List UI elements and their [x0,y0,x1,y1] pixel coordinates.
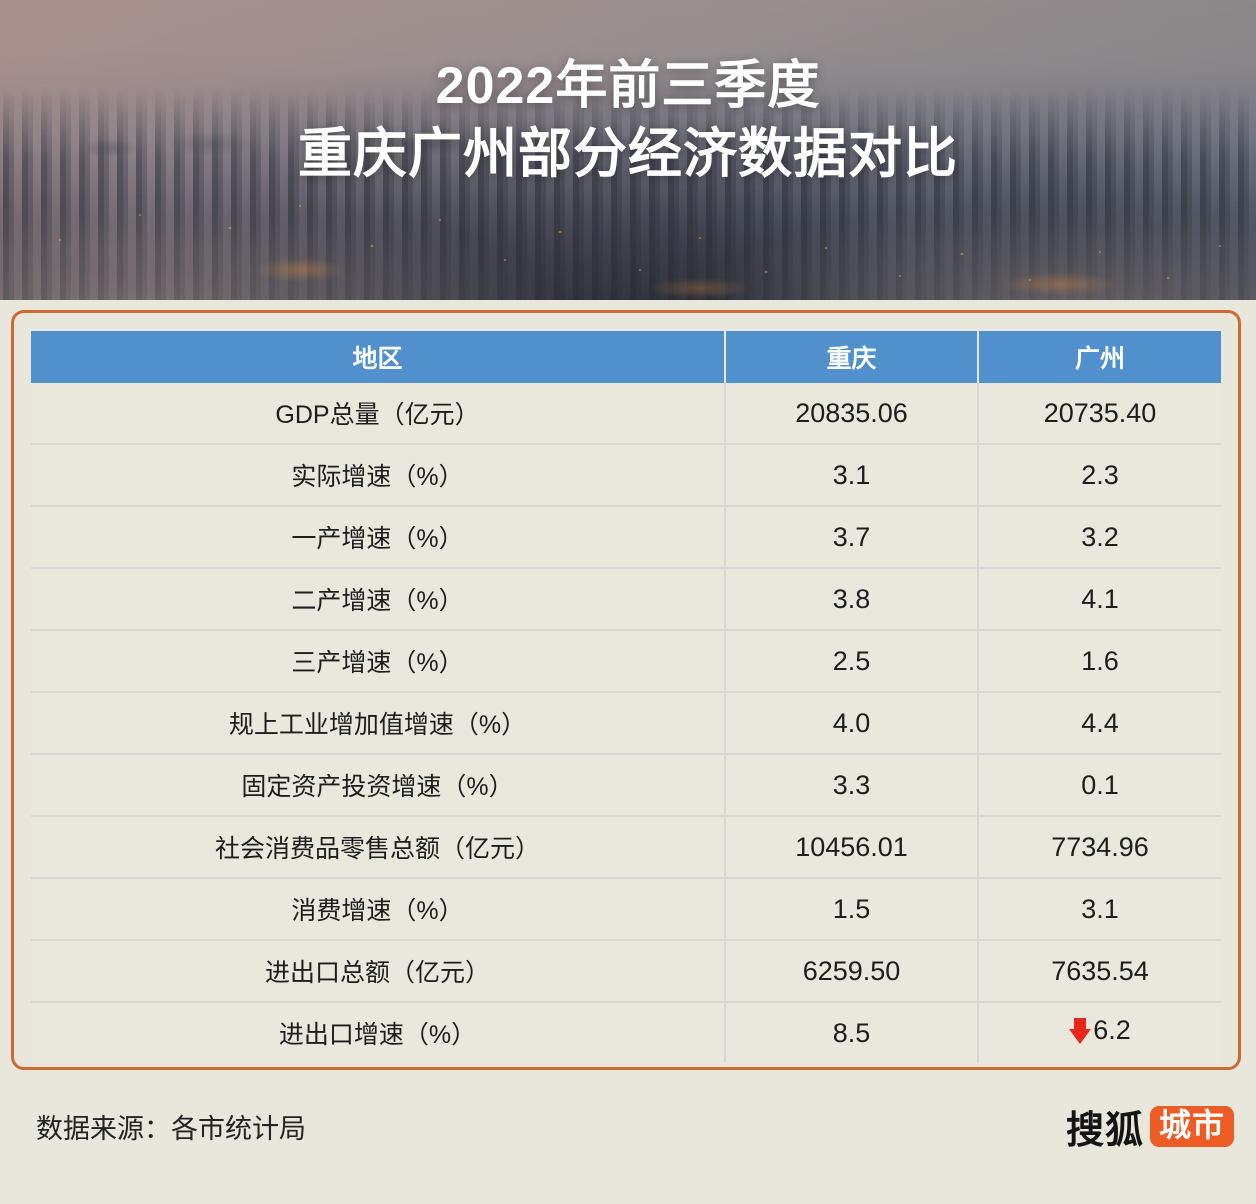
economic-comparison-table: 地区 重庆 广州 GDP总量（亿元）20835.0620735.40实际增速（%… [31,331,1221,1063]
cell-guangzhou-value: 3.2 [978,506,1221,568]
cell-metric: 消费增速（%） [31,878,725,940]
footer: 数据来源：各市统计局 搜狐 城市 [0,1085,1256,1204]
arrow-down-icon [1069,1018,1091,1044]
cell-chongqing-value: 3.7 [725,506,978,568]
page-title-line2: 重庆广州部分经济数据对比 [0,123,1256,187]
cell-metric: 二产增速（%） [31,568,725,630]
cell-chongqing-value: 8.5 [725,1002,978,1063]
table-row: GDP总量（亿元）20835.0620735.40 [31,383,1221,444]
cell-guangzhou-value: 7635.54 [978,940,1221,1002]
cell-chongqing-value: 1.5 [725,878,978,940]
cell-guangzhou-value: 20735.40 [978,383,1221,444]
cell-guangzhou-value: 0.1 [978,754,1221,816]
cell-guangzhou-value: 2.3 [978,444,1221,506]
cell-guangzhou-value: 3.1 [978,878,1221,940]
page-title-line1: 2022年前三季度 [0,56,1256,117]
logo-badge-city: 城市 [1150,1106,1234,1148]
table-row: 规上工业增加值增速（%）4.04.4 [31,692,1221,754]
cell-chongqing-value: 6259.50 [725,940,978,1002]
cell-chongqing-value: 3.8 [725,568,978,630]
table-row: 二产增速（%）3.84.1 [31,568,1221,630]
cell-guangzhou-value: 4.1 [978,568,1221,630]
data-source-text: 数据来源：各市统计局 [36,1107,306,1146]
cell-metric: 三产增速（%） [31,630,725,692]
cell-metric: 实际增速（%） [31,444,725,506]
column-header-metric: 地区 [31,331,725,383]
cell-guangzhou-value: 4.4 [978,692,1221,754]
hero-banner: 2022年前三季度 重庆广州部分经济数据对比 [0,0,1256,300]
value-with-trend: 6.2 [1069,1015,1131,1046]
cell-chongqing-value: 10456.01 [725,816,978,878]
table-row: 实际增速（%）3.12.3 [31,444,1221,506]
column-header-guangzhou: 广州 [978,331,1221,383]
column-header-chongqing: 重庆 [725,331,978,383]
table-row: 进出口增速（%）8.56.2 [31,1002,1221,1063]
table-row: 三产增速（%）2.51.6 [31,630,1221,692]
cell-guangzhou-value: 1.6 [978,630,1221,692]
cell-metric: GDP总量（亿元） [31,383,725,444]
table-row: 社会消费品零售总额（亿元）10456.017734.96 [31,816,1221,878]
table-row: 进出口总额（亿元）6259.507635.54 [31,940,1221,1002]
table-header: 地区 重庆 广州 [31,331,1221,383]
table-body: GDP总量（亿元）20835.0620735.40实际增速（%）3.12.3一产… [31,383,1221,1063]
cell-metric: 进出口增速（%） [31,1002,725,1063]
table-row: 固定资产投资增速（%）3.30.1 [31,754,1221,816]
cell-guangzhou-number: 6.2 [1093,1015,1131,1046]
sohu-city-logo[interactable]: 搜狐 城市 [1066,1099,1234,1154]
page-title: 2022年前三季度 重庆广州部分经济数据对比 [0,56,1256,187]
cell-metric: 规上工业增加值增速（%） [31,692,725,754]
cell-chongqing-value: 3.1 [725,444,978,506]
cell-chongqing-value: 3.3 [725,754,978,816]
comparison-table-card: 地区 重庆 广州 GDP总量（亿元）20835.0620735.40实际增速（%… [11,310,1241,1070]
cell-chongqing-value: 2.5 [725,630,978,692]
table-row: 一产增速（%）3.73.2 [31,506,1221,568]
table-header-row: 地区 重庆 广州 [31,331,1221,383]
logo-wordmark: 搜狐 [1066,1099,1144,1154]
cell-guangzhou-value: 6.2 [978,1002,1221,1063]
table-row: 消费增速（%）1.53.1 [31,878,1221,940]
cell-metric: 固定资产投资增速（%） [31,754,725,816]
cell-metric: 一产增速（%） [31,506,725,568]
cell-metric: 进出口总额（亿元） [31,940,725,1002]
cell-metric: 社会消费品零售总额（亿元） [31,816,725,878]
cell-chongqing-value: 4.0 [725,692,978,754]
cell-chongqing-value: 20835.06 [725,383,978,444]
cell-guangzhou-value: 7734.96 [978,816,1221,878]
